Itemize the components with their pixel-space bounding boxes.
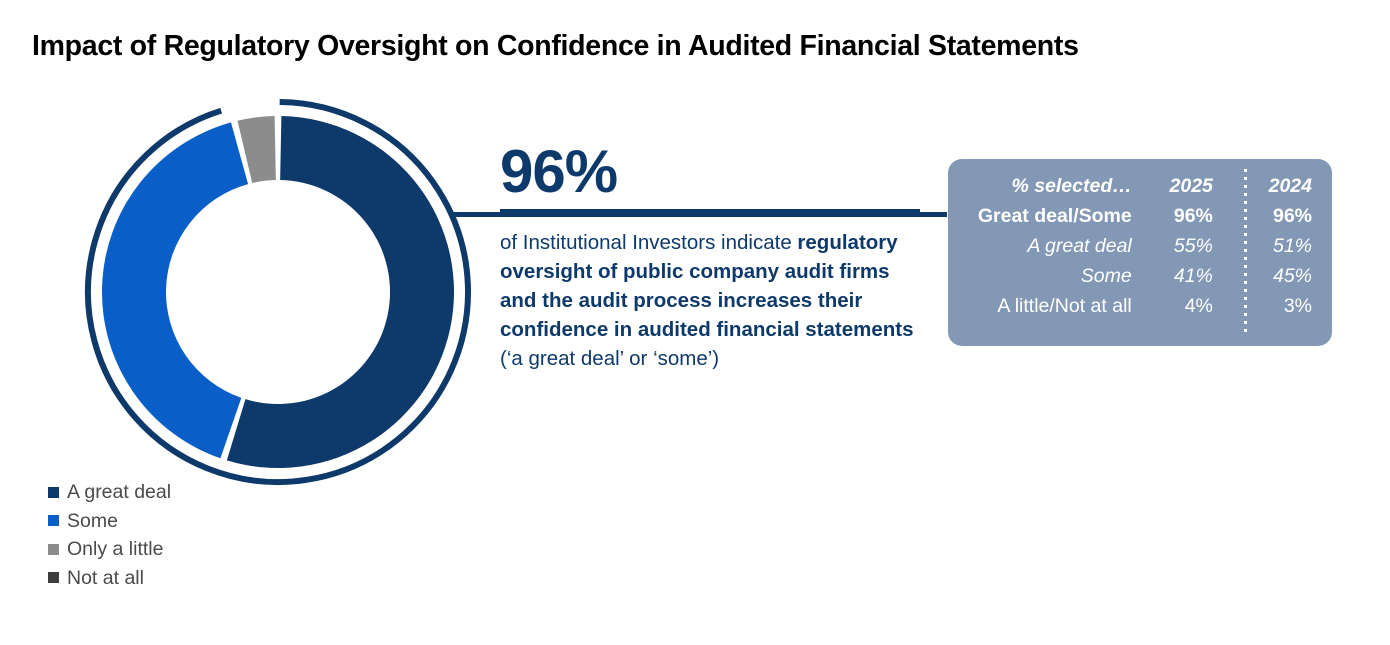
legend-swatch-only-a-little bbox=[48, 544, 59, 555]
table-header-label: % selected… bbox=[962, 171, 1142, 201]
table-header-2024: 2024 bbox=[1227, 171, 1314, 201]
callout-rule bbox=[500, 209, 920, 214]
donut-center-hole bbox=[167, 181, 389, 403]
table-cell-2025: 4% bbox=[1142, 291, 1227, 321]
comparison-table-grid: % selected… 2025 2024 Great deal/Some 96… bbox=[962, 171, 1314, 321]
chart-legend: A great deal Some Only a little Not at a… bbox=[48, 481, 171, 589]
table-cell-2025: 55% bbox=[1142, 231, 1227, 261]
legend-item-a-great-deal[interactable]: A great deal bbox=[48, 481, 171, 503]
table-cell-2024: 45% bbox=[1227, 261, 1314, 291]
callout-body: of Institutional Investors indicate regu… bbox=[500, 228, 920, 373]
donut-chart-svg bbox=[78, 92, 478, 492]
table-cell-2025: 96% bbox=[1142, 201, 1227, 231]
legend-item-not-at-all[interactable]: Not at all bbox=[48, 567, 171, 589]
comparison-table: % selected… 2025 2024 Great deal/Some 96… bbox=[948, 159, 1332, 346]
legend-swatch-not-at-all bbox=[48, 572, 59, 583]
legend-swatch-some bbox=[48, 515, 59, 526]
table-cell-label: Some bbox=[962, 261, 1142, 291]
table-cell-label: Great deal/Some bbox=[962, 201, 1142, 231]
legend-label-not-at-all: Not at all bbox=[67, 567, 144, 589]
table-header-2025: 2025 bbox=[1142, 171, 1227, 201]
callout-block: 96% of Institutional Investors indicate … bbox=[500, 140, 920, 373]
table-cell-2024: 51% bbox=[1227, 231, 1314, 261]
legend-label-only-a-little: Only a little bbox=[67, 538, 163, 560]
legend-item-only-a-little[interactable]: Only a little bbox=[48, 538, 171, 560]
legend-label-a-great-deal: A great deal bbox=[67, 481, 171, 503]
table-cell-2024: 3% bbox=[1227, 291, 1314, 321]
page-title: Impact of Regulatory Oversight on Confid… bbox=[32, 30, 1079, 63]
legend-label-some: Some bbox=[67, 510, 118, 532]
table-header-row: % selected… 2025 2024 bbox=[962, 171, 1314, 201]
callout-value: 96% bbox=[500, 140, 920, 204]
donut-chart bbox=[78, 92, 478, 492]
callout-tail: (‘a great deal’ or ‘some’) bbox=[500, 347, 719, 370]
table-cell-label: A great deal bbox=[962, 231, 1142, 261]
table-row: A great deal 55% 51% bbox=[962, 231, 1314, 261]
table-row: A little/Not at all 4% 3% bbox=[962, 291, 1314, 321]
table-cell-label: A little/Not at all bbox=[962, 291, 1142, 321]
callout-lead: of Institutional Investors indicate bbox=[500, 231, 797, 254]
table-cell-2024: 96% bbox=[1227, 201, 1314, 231]
table-row: Some 41% 45% bbox=[962, 261, 1314, 291]
table-cell-2025: 41% bbox=[1142, 261, 1227, 291]
legend-item-some[interactable]: Some bbox=[48, 510, 171, 532]
table-column-divider bbox=[1244, 169, 1247, 336]
table-row: Great deal/Some 96% 96% bbox=[962, 201, 1314, 231]
legend-swatch-a-great-deal bbox=[48, 487, 59, 498]
